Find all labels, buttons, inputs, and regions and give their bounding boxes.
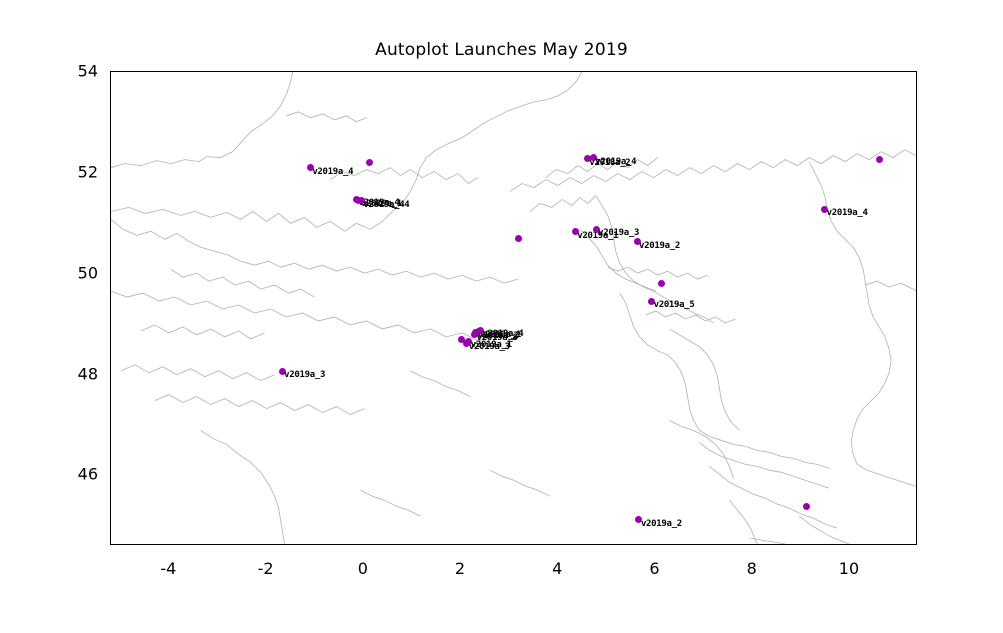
x-ticklabel: 6 xyxy=(649,559,659,578)
matplotlib-figure: Autoplot Launches May 2019 xyxy=(0,0,1003,633)
x-ticklabel: 4 xyxy=(552,559,562,578)
y-ticklabel: 54 xyxy=(78,62,98,81)
page-title: Autoplot Launches May 2019 xyxy=(0,40,1003,60)
x-ticklabel: 0 xyxy=(358,559,368,578)
y-ticklabel: 48 xyxy=(78,364,98,383)
axis-ticklabels-layer: 4648505254-4-20246810 xyxy=(110,71,917,545)
y-ticklabel: 50 xyxy=(78,263,98,282)
x-ticklabel: -2 xyxy=(258,559,274,578)
x-ticklabel: 2 xyxy=(455,559,465,578)
x-ticklabel: 10 xyxy=(839,559,859,578)
y-ticklabel: 52 xyxy=(78,162,98,181)
x-ticklabel: -4 xyxy=(160,559,176,578)
x-ticklabel: 8 xyxy=(747,559,757,578)
y-ticklabel: 46 xyxy=(78,465,98,484)
